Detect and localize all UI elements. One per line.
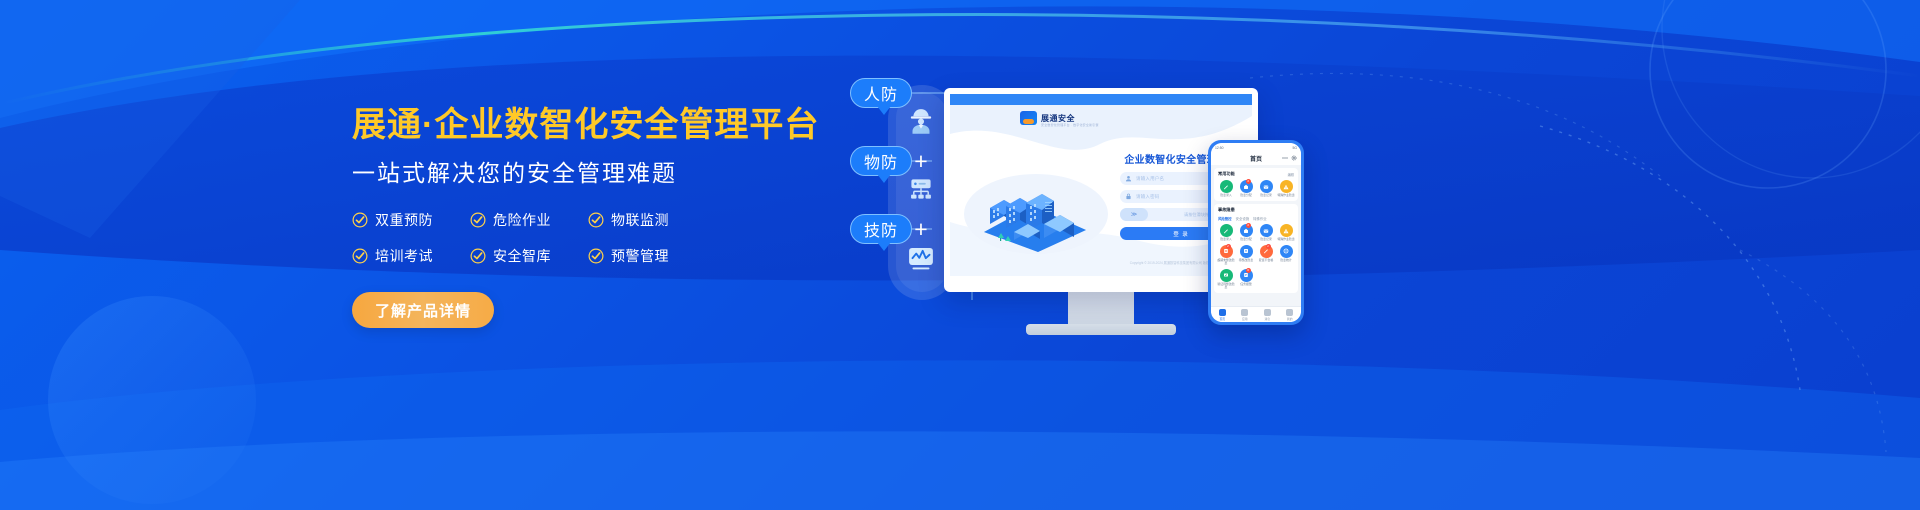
app-tile[interactable]: 特殊作业隐患 [1276, 224, 1296, 241]
pill-renfang[interactable]: 人防 [850, 78, 912, 108]
app-label: 隐患录入 [1217, 238, 1235, 241]
logo-subtext: 安全数智化管理平台 · 数字化安全新引擎 [1041, 123, 1099, 127]
badge-count: 3 [1246, 223, 1251, 228]
monitor-screen: 展通安全 安全数智化管理平台 · 数字化安全新引擎 [950, 94, 1252, 276]
logo-mark-icon [1020, 111, 1037, 125]
recheck-icon[interactable]: 1 [1260, 245, 1273, 258]
password-placeholder: 请输入密码 [1136, 194, 1160, 200]
app-tile[interactable]: 隐患记录 [1256, 180, 1276, 197]
isometric-city-illustration [968, 180, 1096, 252]
nav-title: 首页 [1250, 154, 1262, 163]
app-tile[interactable]: 特殊作业隐患 [1276, 180, 1296, 197]
tabbar-item-profile[interactable]: 我的 [1286, 309, 1293, 321]
alarm-icon[interactable]: 9 [1240, 269, 1253, 282]
app-label: 隐患分配 [1237, 194, 1255, 197]
section-title: 常用功能 [1218, 171, 1235, 177]
mail-icon[interactable] [1260, 180, 1273, 193]
badge-count: 3 [1246, 179, 1251, 184]
feature-item: 双重预防 [352, 210, 470, 230]
app-grid: 隐患录入 3 隐患分配 隐患记录 特殊作业隐患 [1216, 224, 1296, 289]
app-label: 待整改隐患 [1237, 259, 1255, 262]
feature-label: 培训考试 [375, 246, 433, 266]
logo-text: 展通安全 [1041, 113, 1075, 124]
badge-count: 2 [1226, 244, 1231, 249]
app-tile[interactable]: 3 隐患分配 [1236, 180, 1256, 197]
edit-icon[interactable] [1220, 180, 1233, 193]
app-tile[interactable]: 2 超期未整改隐患 [1216, 245, 1236, 266]
overdue-icon[interactable]: 2 [1220, 245, 1233, 258]
feature-item: 安全智库 [470, 246, 588, 266]
phone-screen: 12:50 5G 首页 常用功能 编辑 [1211, 143, 1301, 322]
section-header: 常用功能 编辑 [1216, 171, 1296, 180]
profile-icon [1286, 309, 1293, 316]
assign-icon[interactable]: 3 [1240, 180, 1253, 193]
pill-wufang[interactable]: 物防 [850, 146, 912, 176]
tabbar-label: 我的 [1287, 317, 1293, 321]
app-tile[interactable]: 9 任务报警 [1236, 269, 1256, 290]
phone-tab-bar: 首页 应用 消息 我的 [1211, 306, 1301, 322]
phone-section-hazard: 事故隐患 风险管控 安全设施 特殊作业 隐患录入 3 [1214, 204, 1298, 293]
hero-copy: 展通·企业数智化安全管理平台 一站式解决您的安全管理难题 双重预防 危险作业 物… [352, 104, 822, 328]
badge-count: 1 [1266, 244, 1271, 249]
status-time: 12:50 [1215, 146, 1224, 150]
app-grid: 隐患录入 3 隐患分配 隐患记录 特殊作业隐患 [1216, 180, 1296, 197]
verify-icon[interactable] [1220, 269, 1233, 282]
app-tile[interactable]: 隐患录入 [1216, 180, 1236, 197]
feature-item: 危险作业 [470, 210, 588, 230]
nav-actions[interactable] [1282, 155, 1297, 161]
username-placeholder: 请输入用户名 [1136, 176, 1164, 182]
message-icon [1264, 309, 1271, 316]
warning-icon[interactable] [1280, 224, 1293, 237]
feature-label: 安全智库 [493, 246, 551, 266]
slider-handle[interactable]: ≫ [1120, 208, 1148, 221]
rectify-icon[interactable] [1240, 245, 1253, 258]
tabbar-label: 应用 [1242, 317, 1248, 321]
tab-special-work[interactable]: 特殊作业 [1253, 216, 1267, 221]
check-circle-icon [588, 248, 604, 264]
check-circle-icon [352, 248, 368, 264]
app-label: 特殊作业隐患 [1277, 238, 1295, 241]
app-label: 任务报警 [1237, 283, 1255, 286]
home-icon [1219, 309, 1226, 316]
tabbar-item-home[interactable]: 首页 [1219, 309, 1226, 321]
section-title: 事故隐患 [1218, 207, 1235, 213]
warning-icon[interactable] [1280, 180, 1293, 193]
app-label: 隐患分配 [1237, 238, 1255, 241]
section-tabs: 风险管控 安全设施 特殊作业 [1216, 216, 1296, 224]
tab-facility[interactable]: 安全设施 [1236, 216, 1250, 221]
monitor-stand-neck [1068, 292, 1134, 326]
check-circle-icon [470, 212, 486, 228]
app-label: 验证待整改隐患 [1217, 283, 1235, 290]
app-label: 复查不合格 [1257, 259, 1275, 262]
feature-item: 预警管理 [588, 246, 706, 266]
monitoring-chart-icon [898, 236, 944, 282]
feature-label: 物联监测 [611, 210, 669, 230]
app-tile[interactable]: 隐患录入 [1216, 224, 1236, 241]
monitor-stand-base [1026, 324, 1176, 335]
stats-icon[interactable] [1280, 245, 1293, 258]
feature-label: 危险作业 [493, 210, 551, 230]
user-icon [1125, 175, 1132, 182]
edit-icon[interactable] [1220, 224, 1233, 237]
gear-icon[interactable] [1291, 155, 1297, 161]
app-label: 隐患记录 [1257, 238, 1275, 241]
app-label: 超期未整改隐患 [1217, 259, 1235, 266]
app-tile[interactable]: 隐患记录 [1256, 224, 1276, 241]
tabbar-label: 首页 [1219, 317, 1225, 321]
lock-icon [1125, 193, 1132, 200]
page-subtitle: 一站式解决您的安全管理难题 [352, 158, 822, 188]
app-tile[interactable]: 1 复查不合格 [1256, 245, 1276, 266]
pill-jifang[interactable]: 技防 [850, 214, 912, 244]
assign-icon[interactable]: 3 [1240, 224, 1253, 237]
app-tile[interactable]: 3 隐患分配 [1236, 224, 1256, 241]
feature-item: 培训考试 [352, 246, 470, 266]
brand-logo: 展通安全 安全数智化管理平台 · 数字化安全新引擎 [1020, 111, 1075, 125]
section-action[interactable]: 编辑 [1288, 172, 1294, 177]
app-label: 隐患录入 [1217, 194, 1235, 197]
app-tile[interactable]: 待整改隐患 [1236, 245, 1256, 266]
phone-section-common: 常用功能 编辑 隐患录入 3 隐患分配 [1214, 168, 1298, 201]
app-tile[interactable]: 验证待整改隐患 [1216, 269, 1236, 290]
tab-risk[interactable]: 风险管控 [1218, 216, 1232, 221]
feature-label: 双重预防 [375, 210, 433, 230]
check-circle-icon [588, 212, 604, 228]
mobile-phone-mockup: 12:50 5G 首页 常用功能 编辑 [1208, 140, 1304, 325]
feature-label: 预警管理 [611, 246, 669, 266]
feature-item: 物联监测 [588, 210, 706, 230]
check-circle-icon [352, 212, 368, 228]
app-tile[interactable]: 隐患统计 [1276, 245, 1296, 266]
feature-list: 双重预防 危险作业 物联监测 培训考试 安全智库 预警管理 [352, 210, 822, 266]
more-icon[interactable] [1282, 155, 1288, 161]
section-header: 事故隐患 [1216, 207, 1296, 216]
check-circle-icon [470, 248, 486, 264]
app-label: 特殊作业隐患 [1277, 194, 1295, 197]
hero-banner: 展通·企业数智化安全管理平台 一站式解决您的安全管理难题 双重预防 危险作业 物… [0, 0, 1920, 510]
monitor-top-bar [950, 94, 1252, 105]
app-label: 隐患记录 [1257, 194, 1275, 197]
phone-nav-bar: 首页 [1211, 152, 1301, 165]
mail-icon[interactable] [1260, 224, 1273, 237]
tabbar-item-message[interactable]: 消息 [1264, 309, 1271, 321]
page-title: 展通·企业数智化安全管理平台 [352, 104, 822, 146]
phone-status-bar: 12:50 5G [1211, 143, 1301, 152]
product-showcase: + + 人防 物防 技防 展通安全 安全数智化管理平台 · 数字化安全新引擎 [840, 0, 1920, 510]
badge-count: 9 [1246, 268, 1251, 273]
apps-icon [1241, 309, 1248, 316]
learn-more-button[interactable]: 了解产品详情 [352, 292, 494, 328]
tabbar-item-apps[interactable]: 应用 [1241, 309, 1248, 321]
app-label: 隐患统计 [1277, 259, 1295, 262]
tabbar-label: 消息 [1264, 317, 1270, 321]
status-signal: 5G [1292, 146, 1297, 150]
